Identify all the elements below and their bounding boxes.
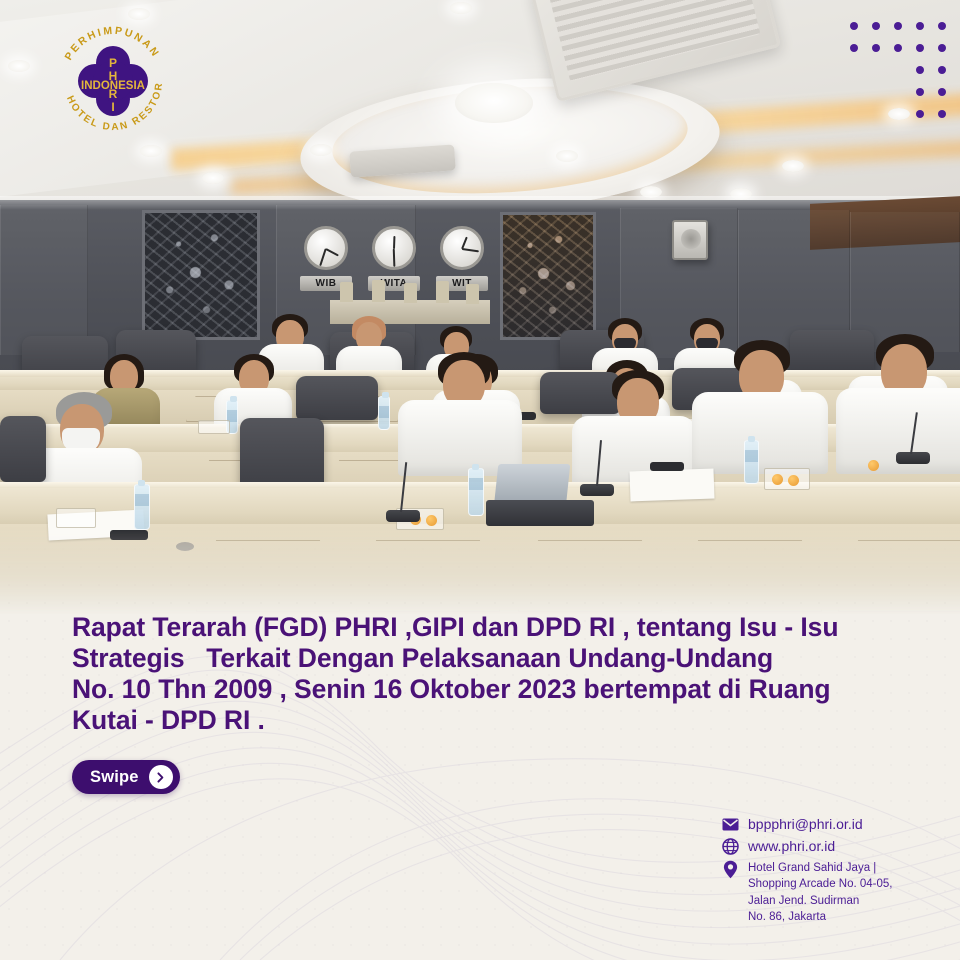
headline-line-2: Strategis Terkait Dengan Pelaksanaan Und…	[72, 643, 902, 674]
downlight-icon	[450, 2, 472, 14]
decorative-dot-grid	[850, 22, 946, 132]
trophy	[466, 284, 479, 304]
phri-logo: PERHIMPUNAN HOTEL DAN RESTORAN P H R I I…	[48, 16, 178, 146]
contact-email-row[interactable]: bppphri@phri.or.id	[722, 816, 940, 833]
desk-panel-detail	[356, 540, 500, 612]
dot	[872, 44, 880, 52]
downlight-icon	[556, 150, 578, 162]
downlight-icon	[202, 172, 224, 184]
headline-line-3: No. 10 Thn 2009 , Senin 16 Oktober 2023 …	[72, 674, 902, 705]
dot	[916, 110, 924, 118]
snack-box	[764, 468, 810, 490]
dot	[938, 88, 946, 96]
wall-panel	[738, 210, 850, 350]
water-bottle	[468, 468, 484, 516]
chair	[240, 418, 324, 492]
dot	[938, 66, 946, 74]
headline-text: Rapat Terarah (FGD) PHRI ,GIPI dan DPD R…	[72, 612, 902, 736]
swipe-label: Swipe	[90, 768, 139, 787]
fruit	[868, 460, 879, 471]
envelope-icon	[722, 816, 739, 833]
dome-ceiling-light	[455, 83, 533, 123]
dot	[894, 22, 902, 30]
dot	[916, 22, 924, 30]
downlight-icon	[782, 160, 804, 172]
dot	[938, 22, 946, 30]
downlight-icon	[140, 145, 162, 157]
logo-letter-i: I	[111, 100, 114, 114]
fruit	[426, 515, 437, 526]
trophy	[340, 282, 353, 302]
wall-clock-wib	[304, 226, 348, 270]
remote-device	[110, 530, 148, 540]
globe-icon	[722, 838, 739, 855]
dot-grid-row	[850, 44, 946, 52]
dot	[938, 44, 946, 52]
laptop-base	[486, 500, 594, 526]
fruit	[788, 475, 799, 486]
desk-panel-detail	[196, 540, 340, 612]
snack-box	[56, 508, 96, 528]
dot-grid-row	[850, 22, 946, 30]
remote-device	[650, 462, 684, 471]
wall-speaker	[672, 220, 708, 260]
chair	[540, 372, 620, 414]
wall-panel	[0, 205, 88, 355]
dot	[916, 88, 924, 96]
downlight-icon	[310, 144, 332, 156]
trophy	[372, 280, 385, 302]
dot	[916, 66, 924, 74]
wall-clock-wit	[440, 226, 484, 270]
microphone-base	[896, 452, 930, 464]
paper-sheet	[630, 469, 715, 502]
chair	[790, 330, 874, 374]
downlight-icon	[8, 60, 30, 72]
microphone-base	[386, 510, 420, 522]
carved-wall-relief-right	[500, 212, 596, 340]
dot-grid-row	[850, 88, 946, 96]
dot-grid-row	[850, 66, 946, 74]
trophy	[404, 283, 417, 303]
headline-line-4: Kutai - DPD RI .	[72, 705, 902, 736]
coaster	[176, 542, 194, 551]
desk-panel-detail	[678, 540, 822, 612]
snack-box	[198, 420, 230, 434]
contact-website-row[interactable]: www.phri.or.id	[722, 838, 940, 855]
dot	[850, 44, 858, 52]
contact-address-row: Hotel Grand Sahid Jaya | Shopping Arcade…	[722, 860, 940, 925]
map-pin-icon	[722, 861, 739, 878]
fruit	[772, 474, 783, 485]
contact-website-value: www.phri.or.id	[748, 838, 835, 854]
contact-email-value: bppphri@phri.or.id	[748, 816, 863, 832]
wall-clock-wita	[372, 226, 416, 270]
desk-panel-detail	[838, 540, 960, 612]
dot	[938, 110, 946, 118]
headline-line-1: Rapat Terarah (FGD) PHRI ,GIPI dan DPD R…	[72, 612, 902, 643]
chair	[296, 376, 378, 420]
contact-address-value: Hotel Grand Sahid Jaya | Shopping Arcade…	[748, 860, 893, 925]
logo-country-label: INDONESIA	[81, 80, 145, 92]
dot	[872, 22, 880, 30]
address-line-1: Hotel Grand Sahid Jaya |	[748, 862, 876, 874]
poster-canvas: WIB WITA WIT	[0, 0, 960, 960]
address-line-3: Jalan Jend. Sudirman	[748, 895, 859, 907]
dot-grid-row	[850, 110, 946, 118]
dot	[850, 22, 858, 30]
address-line-4: No. 86, Jakarta	[748, 911, 826, 923]
water-bottle	[378, 396, 390, 430]
address-line-2: Shopping Arcade No. 04-05,	[748, 878, 893, 890]
swipe-button[interactable]: Swipe	[72, 760, 180, 794]
dot	[916, 44, 924, 52]
chair	[0, 416, 46, 482]
logo-letter-p: P	[109, 56, 117, 70]
chevron-right-icon	[149, 765, 173, 789]
water-bottle	[134, 484, 150, 530]
carved-wall-relief-left	[142, 210, 260, 340]
contact-block: bppphri@phri.or.id www.phri.or.id	[722, 816, 940, 930]
water-bottle	[744, 440, 759, 484]
dot	[894, 44, 902, 52]
desk-panel-detail	[518, 540, 662, 612]
trophy	[436, 281, 449, 303]
